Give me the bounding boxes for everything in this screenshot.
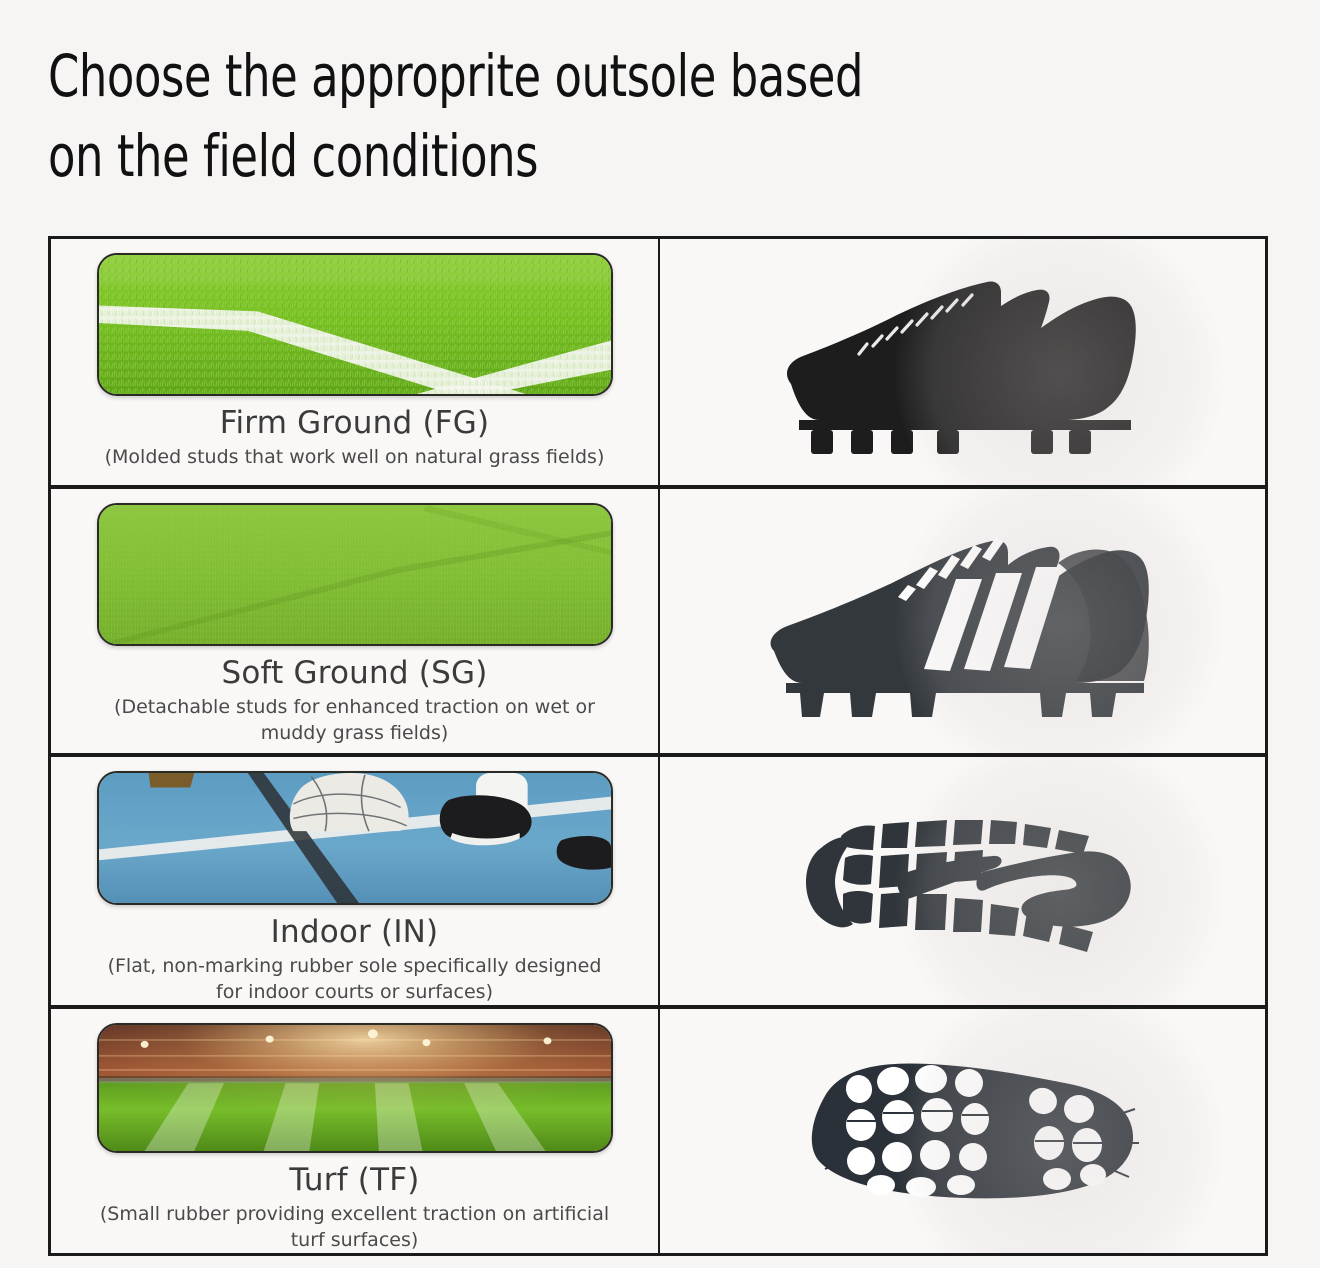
outsole-type-title: Soft Ground (SG) bbox=[222, 655, 488, 692]
row-description-cell-turf: Turf (TF) (Small rubber providing excell… bbox=[51, 1009, 660, 1253]
indoor-outsole-tread-icon bbox=[787, 802, 1139, 960]
outsole-type-title: Turf (TF) bbox=[289, 1162, 419, 1199]
row-description-cell-soft-ground: Soft Ground (SG) (Detachable studs for e… bbox=[51, 489, 660, 753]
sg-cleat-silhouette-icon bbox=[758, 521, 1168, 721]
outsole-comparison-table: Firm Ground (FG) (Molded studs that work… bbox=[48, 236, 1268, 1256]
row-description-cell-firm-ground: Firm Ground (FG) (Molded studs that work… bbox=[51, 239, 660, 485]
outsole-type-description: (Small rubber providing excellent tracti… bbox=[95, 1201, 615, 1253]
row-illustration-cell-turf bbox=[660, 1009, 1265, 1253]
table-row: Soft Ground (SG) (Detachable studs for e… bbox=[51, 489, 1265, 757]
firm-ground-grass-thumbnail bbox=[97, 253, 613, 396]
table-row: Indoor (IN) (Flat, non-marking rubber so… bbox=[51, 757, 1265, 1009]
outsole-type-description: (Molded studs that work well on natural … bbox=[105, 444, 605, 470]
row-illustration-cell-firm-ground bbox=[660, 239, 1265, 485]
outsole-type-title: Indoor (IN) bbox=[271, 914, 439, 951]
page-title: Choose the approprite outsole based on t… bbox=[48, 36, 1106, 196]
row-description-cell-indoor: Indoor (IN) (Flat, non-marking rubber so… bbox=[51, 757, 660, 1005]
table-row: Firm Ground (FG) (Molded studs that work… bbox=[51, 239, 1265, 489]
indoor-court-thumbnail bbox=[97, 771, 613, 905]
row-illustration-cell-indoor bbox=[660, 757, 1265, 1005]
outsole-type-title: Firm Ground (FG) bbox=[220, 405, 490, 442]
table-row: Turf (TF) (Small rubber providing excell… bbox=[51, 1009, 1265, 1253]
row-illustration-cell-soft-ground bbox=[660, 489, 1265, 753]
fg-cleat-silhouette-icon bbox=[763, 262, 1163, 462]
outsole-type-description: (Flat, non-marking rubber sole specifica… bbox=[95, 953, 615, 1005]
turf-stadium-thumbnail bbox=[97, 1023, 613, 1153]
soft-ground-grass-thumbnail bbox=[97, 503, 613, 646]
outsole-type-description: (Detachable studs for enhanced traction … bbox=[95, 694, 615, 746]
turf-outsole-studs-icon bbox=[785, 1051, 1141, 1211]
